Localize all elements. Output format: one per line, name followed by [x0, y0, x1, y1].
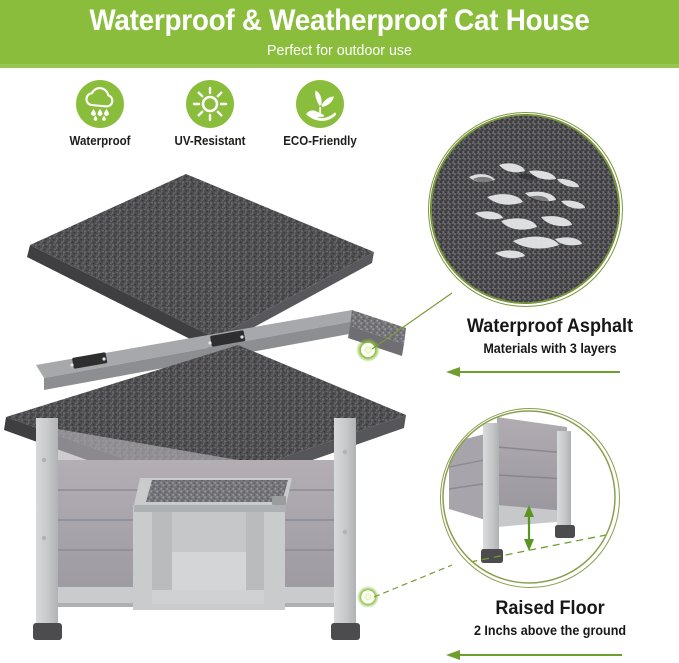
feature-label: ECO-Friendly	[269, 134, 370, 148]
feature-waterproof: Waterproof	[45, 80, 155, 148]
corner-post-right	[334, 418, 356, 633]
callout-subtitle: 2 Inchs above the ground	[438, 623, 661, 638]
page-subtitle: Perfect for outdoor use	[17, 42, 662, 59]
feature-eco-friendly: ECO-Friendly	[265, 80, 375, 148]
sun-icon	[186, 80, 234, 128]
arrow-floor	[446, 650, 622, 660]
foot-left	[33, 623, 62, 640]
product-illustration	[0, 160, 430, 663]
infographic-page: Waterproof & Weatherproof Cat House Perf…	[0, 0, 679, 663]
callout-title: Raised Floor	[436, 598, 664, 620]
detail-circle-asphalt	[428, 112, 623, 307]
callout-waterproof-asphalt: Waterproof Asphalt Materials with 3 laye…	[430, 316, 670, 356]
feature-label: Waterproof	[49, 134, 150, 148]
feature-label: UV-Resistant	[159, 134, 260, 148]
banner-underline	[0, 64, 679, 68]
callout-marker-leg	[357, 586, 379, 608]
door-opening	[133, 505, 285, 610]
callout-raised-floor: Raised Floor 2 Inchs above the ground	[430, 598, 670, 638]
callout-subtitle: Materials with 3 layers	[438, 341, 661, 356]
header-banner: Waterproof & Weatherproof Cat House Perf…	[0, 0, 679, 68]
hand-leaf-icon	[296, 80, 344, 128]
corner-post-left	[36, 418, 58, 633]
callout-marker-roof	[356, 338, 380, 362]
arrow-asphalt	[446, 367, 620, 377]
feature-list: Waterproof UV-	[45, 80, 375, 162]
page-title: Waterproof & Weatherproof Cat House	[24, 4, 655, 38]
detail-circle-raised-floor	[440, 408, 620, 588]
foot-right	[331, 623, 360, 640]
feature-uv-resistant: UV-Resistant	[155, 80, 265, 148]
callout-title: Waterproof Asphalt	[436, 316, 664, 338]
door-awning	[134, 478, 292, 512]
rain-cloud-icon	[76, 80, 124, 128]
